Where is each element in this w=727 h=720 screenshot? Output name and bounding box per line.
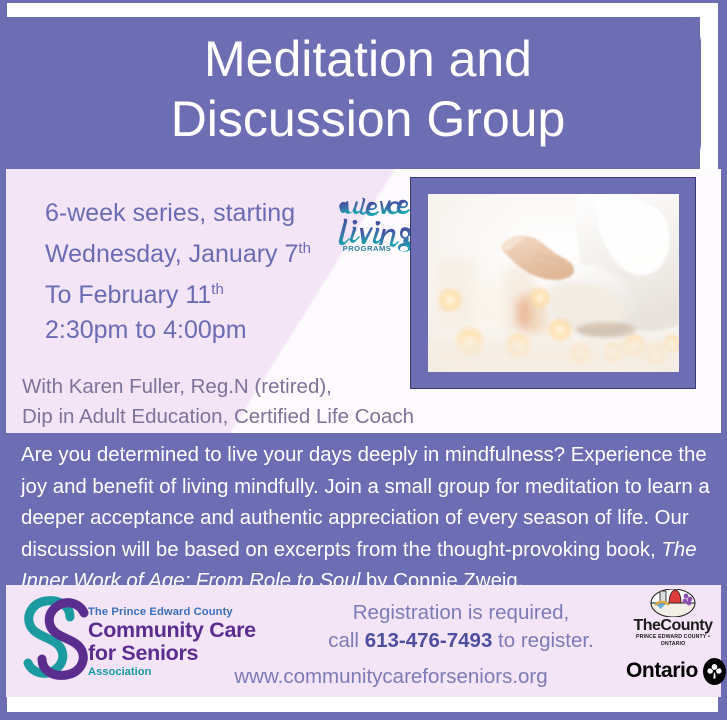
trillium-icon (703, 658, 726, 685)
ontario-logo: Ontario (626, 655, 726, 687)
county-subtitle: PRINCE EDWARD COUNTY • ONTARIO (628, 634, 718, 648)
registration-line-1: Registration is required, (296, 599, 626, 627)
county-basket-icon (628, 589, 718, 617)
cc-line-3: for Seniors (88, 642, 256, 665)
presenter-line-1: With Karen Fuller, Reg.N (retired), (22, 372, 414, 402)
frame-bottom-white (6, 697, 721, 712)
meditation-photo-image (428, 194, 679, 372)
meditation-photo-frame (410, 177, 696, 389)
title-line-2: Discussion Group (35, 89, 701, 149)
svg-text:PROGRAMS: PROGRAMS (343, 244, 392, 253)
registration-call-label: call (328, 629, 364, 652)
county-wordmark: TheCounty (628, 617, 718, 634)
cc-line-2: Community Care (88, 619, 256, 642)
county-the: The (633, 617, 660, 634)
schedule-line-1: 6-week series, starting (45, 196, 311, 231)
the-county-logo: TheCounty PRINCE EDWARD COUNTY • ONTARIO (628, 589, 718, 651)
community-care-logo-icon (20, 593, 90, 681)
registration-tail-label: to register. (492, 629, 593, 652)
footer: The Prince Edward County Community Care … (6, 585, 721, 697)
county-name: County (660, 617, 712, 634)
presenter-line-2: Dip in Adult Education, Certified Life C… (22, 402, 414, 432)
schedule-line-2-ordinal: th (298, 240, 311, 257)
frame-top-white (6, 3, 721, 17)
header-banner: Meditation and Discussion Group (35, 17, 701, 169)
schedule-line-2-text: Wednesday, January 7 (45, 240, 298, 268)
schedule-line-3: To February 11th (45, 272, 311, 313)
registration-info: Registration is required, call 613-476-7… (296, 599, 626, 655)
title-line-1: Meditation and (35, 29, 701, 89)
schedule-line-2: Wednesday, January 7th (45, 231, 311, 272)
schedule-text: 6-week series, starting Wednesday, Janua… (45, 196, 311, 348)
page-title: Meditation and Discussion Group (35, 29, 701, 149)
ontario-wordmark: Ontario (626, 659, 698, 683)
meditation-photo (428, 194, 679, 372)
active-living-logo: PROGRAMS (330, 189, 414, 253)
schedule-line-3-text: To February 11 (45, 281, 211, 309)
schedule-line-4: 2:30pm to 4:00pm (45, 313, 311, 348)
presenter-text: With Karen Fuller, Reg.N (retired), Dip … (22, 372, 414, 432)
registration-line-2: call 613-476-7493 to register. (296, 627, 626, 655)
description-text: Are you determined to live your days dee… (21, 440, 713, 598)
poster-root: Meditation and Discussion Group 6-week s… (0, 0, 727, 720)
website-link[interactable]: www.communitycareforseniors.org (181, 665, 601, 689)
schedule-line-3-ordinal: th (211, 281, 224, 298)
frame-right-white (700, 3, 718, 178)
active-living-logo-icon: PROGRAMS (330, 189, 414, 253)
description-band: Are you determined to live your days dee… (6, 433, 721, 585)
registration-phone[interactable]: 613-476-7493 (365, 629, 493, 652)
description-part-1: Are you determined to live your days dee… (21, 444, 710, 561)
